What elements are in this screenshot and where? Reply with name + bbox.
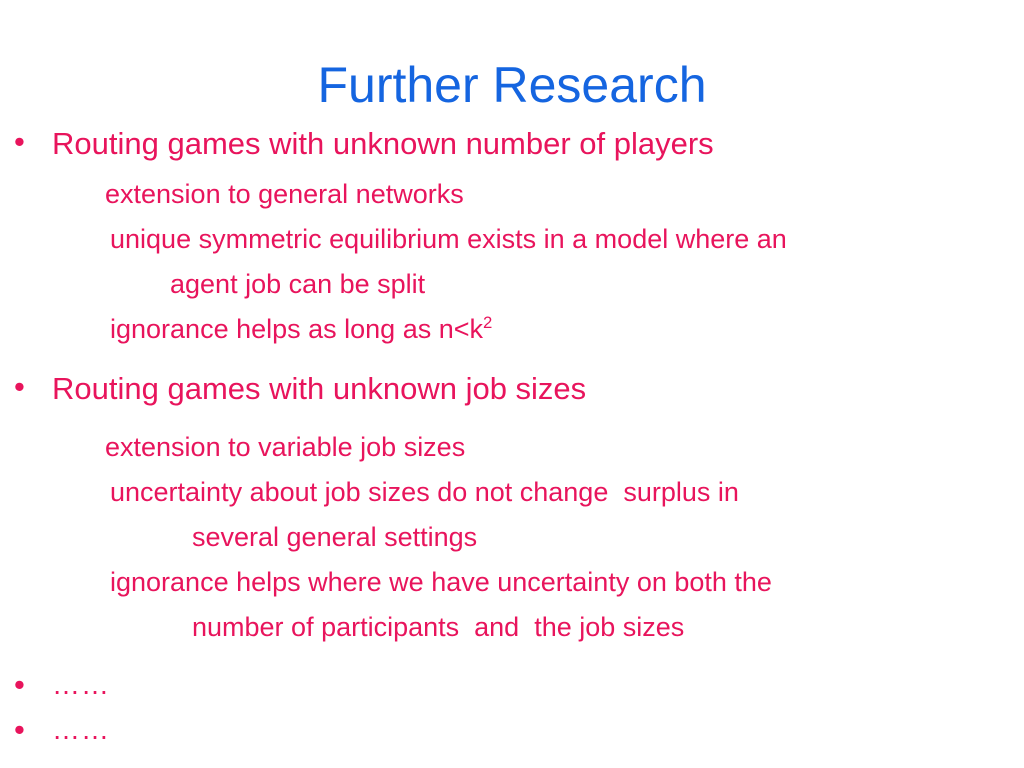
spacer — [0, 361, 1024, 371]
bullet-point-icon: • — [14, 371, 34, 402]
sub-line: ignorance helps as long as n<k2 — [0, 316, 1024, 361]
spacer — [0, 659, 1024, 669]
sub-line-text: ignorance helps as long as n<k — [110, 314, 483, 344]
sub-line: ignorance helps where we have uncertaint… — [0, 569, 1024, 614]
sub-line: number of participants and the job sizes — [0, 614, 1024, 659]
sub-line: several general settings — [0, 524, 1024, 569]
sub-line: agent job can be split — [0, 271, 1024, 316]
bullet-item-routing-unknown-players: • Routing games with unknown number of p… — [0, 126, 1024, 171]
sub-line: uncertainty about job sizes do not chang… — [0, 479, 1024, 524]
bullet-label: …… — [52, 671, 110, 699]
sub-line: extension to general networks — [0, 181, 1024, 226]
bullet-label: …… — [52, 716, 110, 744]
sub-line: extension to variable job sizes — [0, 434, 1024, 479]
bullet-point-icon: • — [14, 126, 34, 157]
presentation-slide: Further Research • Routing games with un… — [0, 0, 1024, 768]
superscript-exponent: 2 — [483, 313, 492, 332]
bullet-point-icon: • — [14, 669, 34, 700]
bullet-label: Routing games with unknown job sizes — [52, 373, 586, 404]
bullet-item-ellipsis-2: • …… — [0, 714, 1024, 759]
page-title: Further Research — [0, 60, 1024, 110]
bullet-item-ellipsis-1: • …… — [0, 669, 1024, 714]
slide-body: • Routing games with unknown number of p… — [0, 126, 1024, 759]
bullet-point-icon: • — [14, 714, 34, 745]
bullet-label: Routing games with unknown number of pla… — [52, 128, 714, 159]
sub-line: unique symmetric equilibrium exists in a… — [0, 226, 1024, 271]
bullet-item-routing-unknown-job-sizes: • Routing games with unknown job sizes — [0, 371, 1024, 416]
